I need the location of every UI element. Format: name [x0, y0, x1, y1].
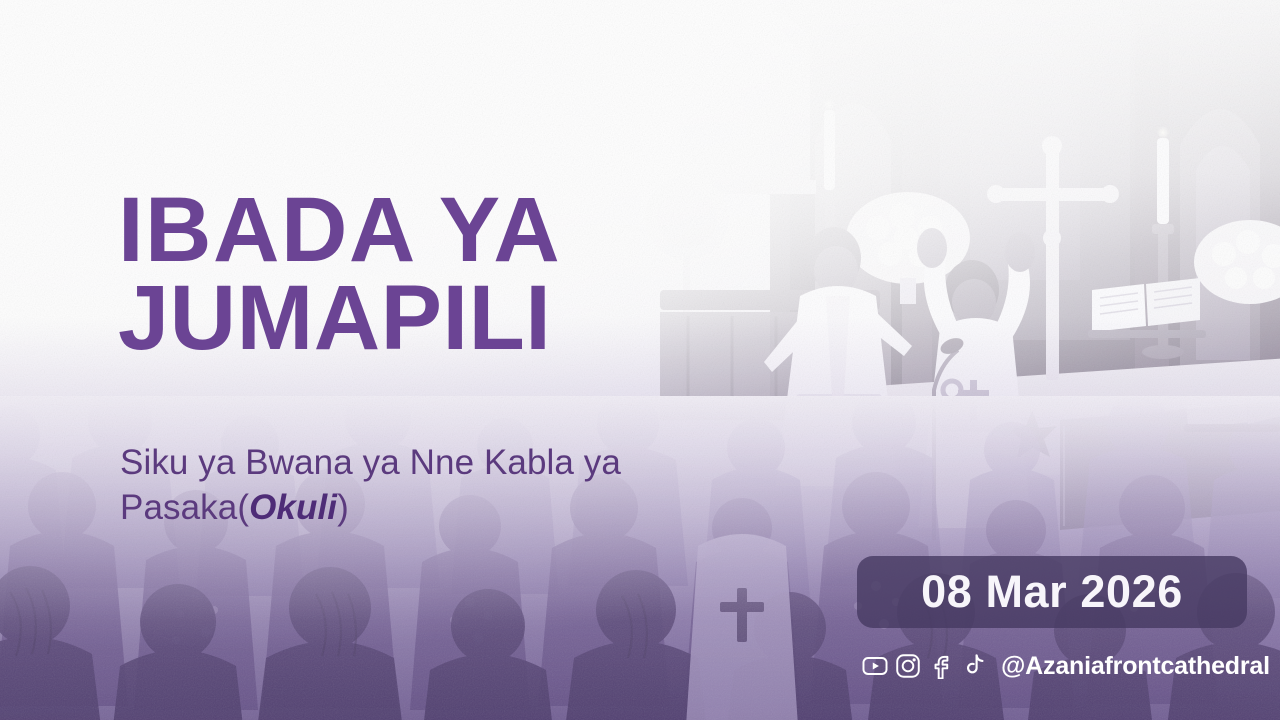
- instagram-icon[interactable]: [895, 653, 921, 679]
- tiktok-icon[interactable]: [961, 653, 987, 679]
- page-title: IBADA YA JUMAPILI: [118, 186, 738, 363]
- headline-line-1: IBADA YA: [118, 186, 738, 274]
- subtitle: Siku ya Bwana ya Nne Kabla ya Pasaka(Oku…: [120, 441, 700, 531]
- subtitle-suffix: ): [337, 488, 349, 527]
- social-media-bar: @Azaniafrontcathedral: [862, 650, 1270, 682]
- service-announcement-poster: IBADA YA JUMAPILI Siku ya Bwana ya Nne K…: [0, 0, 1280, 720]
- headline-line-2: JUMAPILI: [118, 274, 738, 362]
- subtitle-emphasis: Okuli: [249, 488, 337, 527]
- social-handle-text[interactable]: @Azaniafrontcathedral: [1001, 652, 1270, 681]
- date-badge: 08 Mar 2026: [857, 556, 1247, 628]
- facebook-icon[interactable]: [928, 653, 954, 679]
- date-badge-text: 08 Mar 2026: [921, 566, 1183, 618]
- youtube-icon[interactable]: [862, 653, 888, 679]
- subtitle-prefix: Siku ya Bwana ya Nne Kabla ya Pasaka(: [120, 443, 621, 527]
